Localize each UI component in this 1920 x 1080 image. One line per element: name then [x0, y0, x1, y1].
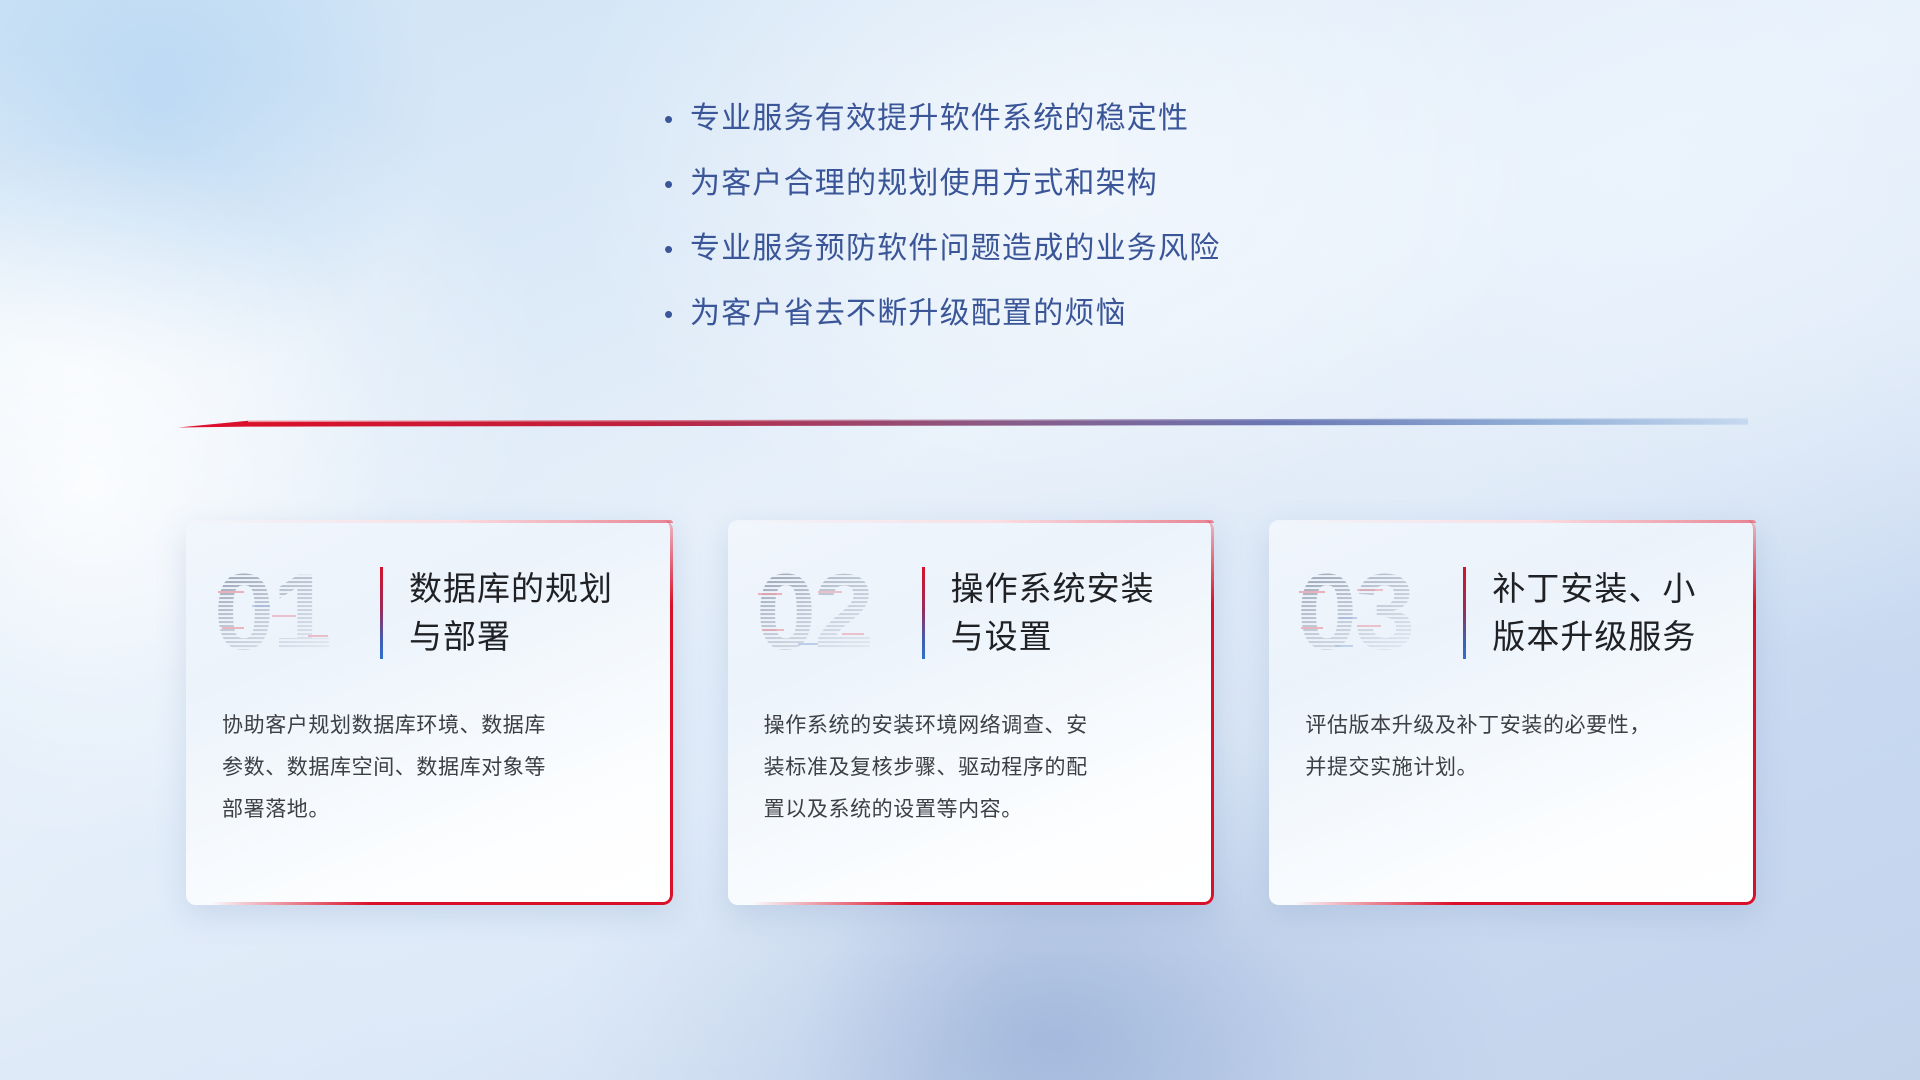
card-description-line: 操作系统的安装环境网络调查、安 — [764, 705, 1177, 747]
feature-card[interactable]: 01 数据库的规划 与部署 协助客户规划数据库环境、数据库 — [186, 520, 673, 905]
card-description-line: 评估版本升级及补丁安装的必要性， — [1305, 705, 1718, 747]
bullet-dot-icon: • — [664, 295, 690, 333]
slide-root: • 专业服务有效提升软件系统的稳定性 • 为客户合理的规划使用方式和架构 • 专… — [0, 0, 1920, 1080]
card-title-line: 补丁安装、小 — [1492, 565, 1742, 613]
bullet-text: 为客户合理的规划使用方式和架构 — [690, 165, 1158, 203]
card-description-line: 并提交实施计划。 — [1305, 747, 1718, 789]
bullet-text: 为客户省去不断升级配置的烦恼 — [690, 295, 1127, 333]
list-item: • 专业服务预防软件问题造成的业务风险 — [664, 230, 1484, 295]
card-title-line: 与设置 — [951, 613, 1201, 661]
card-title-line: 版本升级服务 — [1492, 613, 1742, 661]
card-title-accent-bar — [922, 567, 925, 659]
bullet-dot-icon: • — [664, 100, 690, 138]
card-title-accent-bar — [1463, 567, 1466, 659]
card-description: 协助客户规划数据库环境、数据库 参数、数据库空间、数据库对象等 部署落地。 — [186, 705, 673, 831]
card-number-01: 01 — [212, 561, 356, 665]
card-number-02: 02 — [754, 561, 898, 665]
feature-card[interactable]: 03 补丁安装、小 版本升级服务 评估 — [1269, 520, 1756, 905]
feature-card-row: 01 数据库的规划 与部署 协助客户规划数据库环境、数据库 — [186, 520, 1756, 910]
svg-text:02: 02 — [756, 561, 872, 665]
card-description-line: 协助客户规划数据库环境、数据库 — [222, 705, 635, 747]
bullet-text: 专业服务预防软件问题造成的业务风险 — [690, 230, 1220, 268]
card-title-accent-bar — [380, 567, 383, 659]
card-description: 操作系统的安装环境网络调查、安 装标准及复核步骤、驱动程序的配 置以及系统的设置… — [728, 705, 1215, 831]
card-title: 补丁安装、小 版本升级服务 — [1492, 565, 1742, 661]
card-title-line: 数据库的规划 — [409, 565, 659, 613]
card-header: 01 数据库的规划 与部署 — [186, 520, 673, 705]
list-item: • 专业服务有效提升软件系统的稳定性 — [664, 100, 1484, 165]
card-description-line: 部署落地。 — [222, 789, 635, 831]
bullet-dot-icon: • — [664, 230, 690, 268]
svg-text:01: 01 — [214, 561, 330, 665]
card-description-line: 装标准及复核步骤、驱动程序的配 — [764, 747, 1177, 789]
card-header: 03 补丁安装、小 版本升级服务 — [1269, 520, 1756, 705]
card-header: 02 操作系统安装 与设置 — [728, 520, 1215, 705]
bullet-text: 专业服务有效提升软件系统的稳定性 — [690, 100, 1189, 138]
card-title: 数据库的规划 与部署 — [409, 565, 659, 661]
card-number-03: 03 — [1295, 561, 1439, 665]
section-divider — [178, 414, 1748, 432]
bullet-list: • 专业服务有效提升软件系统的稳定性 • 为客户合理的规划使用方式和架构 • 专… — [664, 100, 1484, 360]
list-item: • 为客户合理的规划使用方式和架构 — [664, 165, 1484, 230]
bullet-dot-icon: • — [664, 165, 690, 203]
list-item: • 为客户省去不断升级配置的烦恼 — [664, 295, 1484, 360]
background-glow-top-left — [0, 0, 440, 380]
card-title-line: 与部署 — [409, 613, 659, 661]
card-title: 操作系统安装 与设置 — [951, 565, 1201, 661]
card-title-line: 操作系统安装 — [951, 565, 1201, 613]
card-description: 评估版本升级及补丁安装的必要性， 并提交实施计划。 — [1269, 705, 1756, 789]
feature-card[interactable]: 02 操作系统安装 与设置 操作系统的安装环境网络调查、安 — [728, 520, 1215, 905]
card-description-line: 置以及系统的设置等内容。 — [764, 789, 1177, 831]
card-description-line: 参数、数据库空间、数据库对象等 — [222, 747, 635, 789]
svg-text:03: 03 — [1297, 561, 1413, 665]
